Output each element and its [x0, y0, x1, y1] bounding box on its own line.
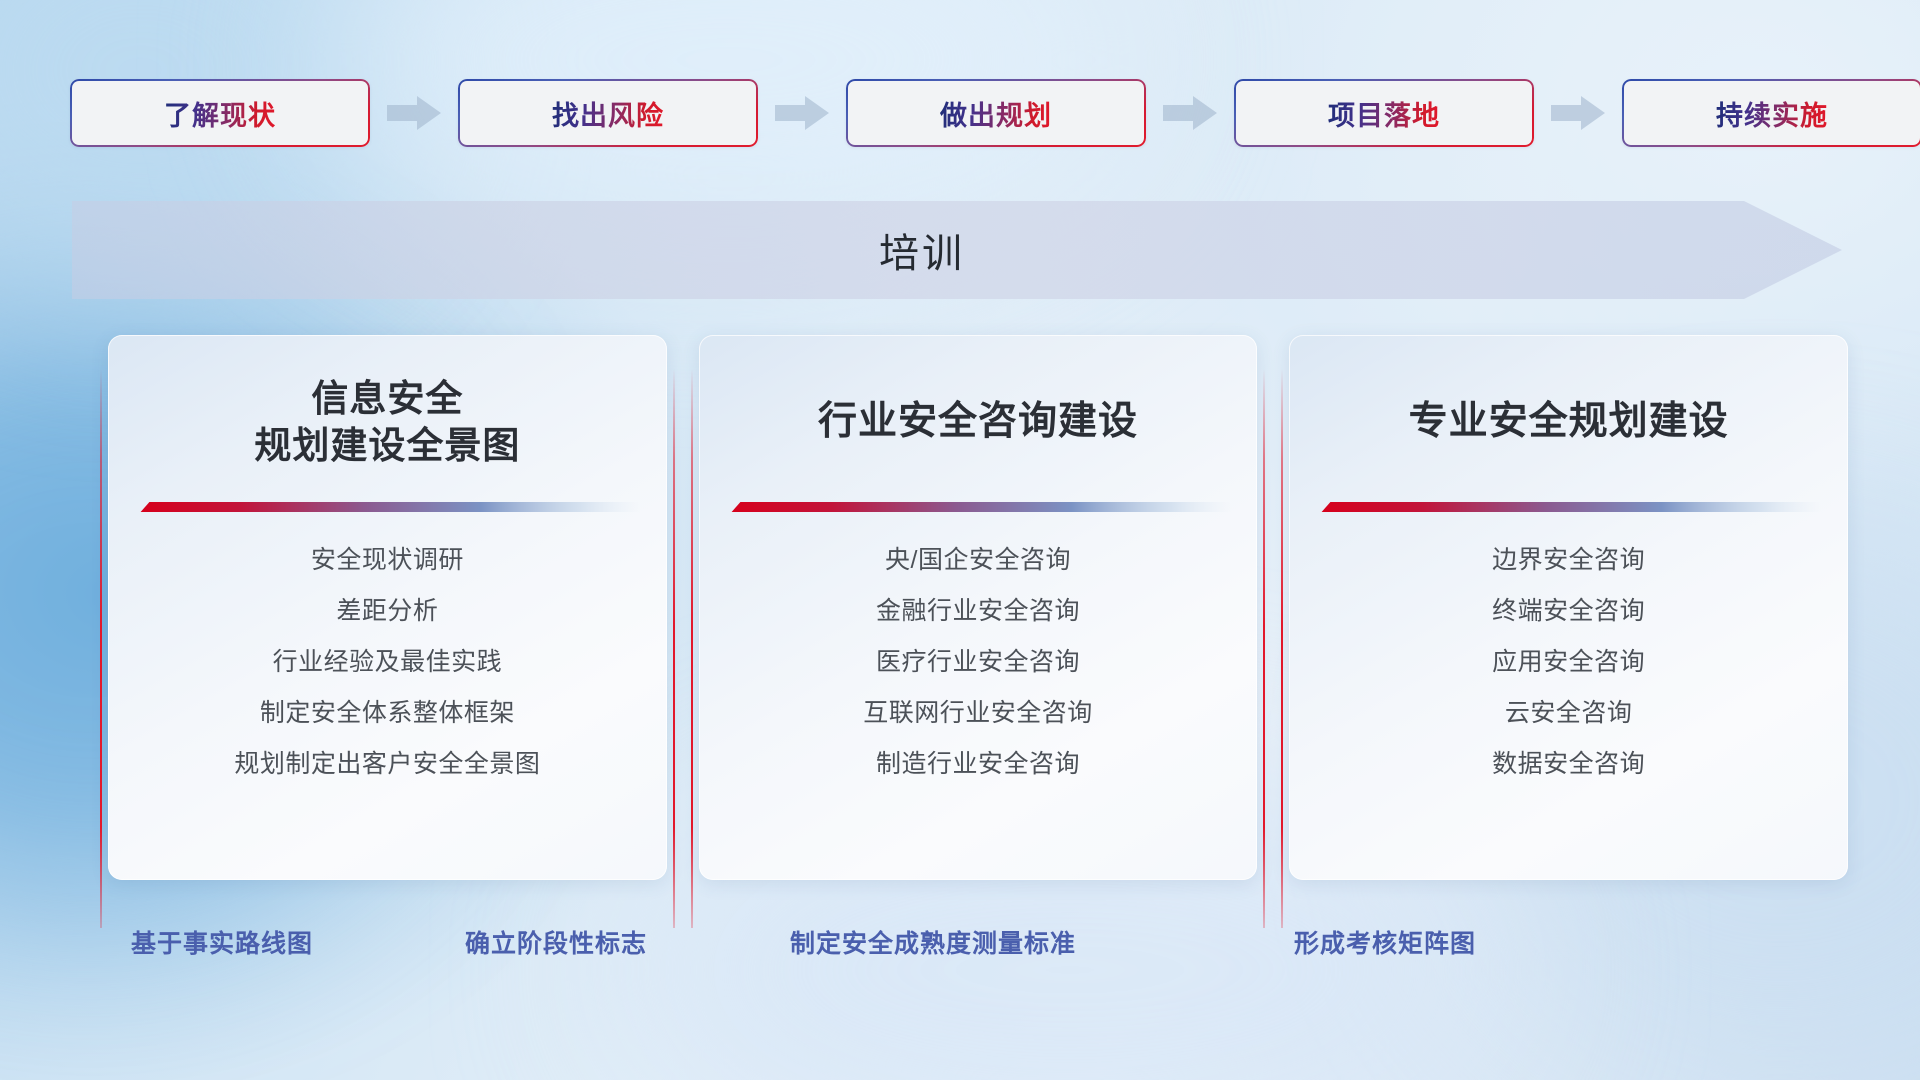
card-accent-rail-left — [1281, 369, 1283, 928]
card-professional-security-planning[interactable]: 专业安全规划建设 — [1289, 335, 1848, 880]
card-accent-rail-left — [100, 369, 102, 928]
list-item: 医疗行业安全咨询 — [725, 637, 1232, 688]
list-item: 边界安全咨询 — [1315, 535, 1822, 586]
process-step-row: 了解现状 找出风险 做出规划 项目落地 持续实施 — [70, 79, 1860, 147]
list-item: 金融行业安全咨询 — [725, 586, 1232, 637]
list-item: 终端安全咨询 — [1315, 586, 1822, 637]
list-item: 数据安全咨询 — [1315, 739, 1822, 790]
list-item: 安全现状调研 — [134, 535, 641, 586]
card-header: 专业安全规划建设 — [1409, 363, 1729, 481]
card-item-list: 安全现状调研 差距分析 行业经验及最佳实践 制定安全体系整体框架 规划制定出客户… — [134, 535, 641, 790]
list-item: 规划制定出客户安全全景图 — [134, 739, 641, 790]
footer-label-assessment-matrix: 形成考核矩阵图 — [1294, 924, 1476, 960]
card-industry-security-consulting[interactable]: 行业安全咨询建设 — [699, 335, 1258, 880]
card-divider — [1315, 499, 1822, 515]
footer-label-maturity-standard: 制定安全成熟度测量标准 — [790, 924, 1076, 960]
footer-label-roadmap: 基于事实路线图 — [131, 924, 313, 960]
banner-title: 培训 — [72, 201, 1842, 299]
card-item-list: 边界安全咨询 终端安全咨询 应用安全咨询 云安全咨询 数据安全咨询 — [1315, 535, 1822, 790]
list-item: 互联网行业安全咨询 — [725, 688, 1232, 739]
list-item: 应用安全咨询 — [1315, 637, 1822, 688]
right-arrow-icon — [1551, 96, 1605, 130]
list-item: 制定安全体系整体框架 — [134, 688, 641, 739]
card-divider — [134, 499, 641, 515]
card-accent-rail-left — [691, 369, 693, 928]
step-box-2[interactable]: 找出风险 — [458, 79, 758, 147]
list-item: 差距分析 — [134, 586, 641, 637]
step-label: 了解现状 — [164, 94, 276, 133]
card-title: 信息安全 规划建设全景图 — [254, 375, 520, 470]
card-title: 行业安全咨询建设 — [818, 397, 1138, 447]
list-item: 央/国企安全咨询 — [725, 535, 1232, 586]
list-item: 制造行业安全咨询 — [725, 739, 1232, 790]
card-header: 行业安全咨询建设 — [818, 363, 1138, 481]
step-box-5[interactable]: 持续实施 — [1622, 79, 1920, 147]
card-divider — [725, 499, 1232, 515]
list-item: 行业经验及最佳实践 — [134, 637, 641, 688]
list-item: 云安全咨询 — [1315, 688, 1822, 739]
card-accent-rail-right — [1263, 369, 1265, 928]
card-information-security[interactable]: 信息安全 规划建设全景图 — [108, 335, 667, 880]
card-row: 信息安全 规划建设全景图 — [108, 335, 1848, 880]
card-accent-rail-right — [673, 369, 675, 928]
step-box-4[interactable]: 项目落地 — [1234, 79, 1534, 147]
step-box-1[interactable]: 了解现状 — [70, 79, 370, 147]
card-title: 专业安全规划建设 — [1409, 397, 1729, 447]
step-box-3[interactable]: 做出规划 — [846, 79, 1146, 147]
slide-canvas: 了解现状 找出风险 做出规划 项目落地 持续实施 — [0, 0, 1920, 1080]
right-arrow-icon — [775, 96, 829, 130]
step-label: 找出风险 — [552, 94, 664, 133]
footer-label-milestones: 确立阶段性标志 — [465, 924, 647, 960]
card-header: 信息安全 规划建设全景图 — [254, 363, 520, 481]
step-label: 持续实施 — [1716, 94, 1828, 133]
card-item-list: 央/国企安全咨询 金融行业安全咨询 医疗行业安全咨询 互联网行业安全咨询 制造行… — [725, 535, 1232, 790]
step-label: 做出规划 — [940, 94, 1052, 133]
right-arrow-icon — [387, 96, 441, 130]
right-arrow-icon — [1163, 96, 1217, 130]
step-label: 项目落地 — [1328, 94, 1440, 133]
training-banner: 培训 — [72, 201, 1842, 299]
